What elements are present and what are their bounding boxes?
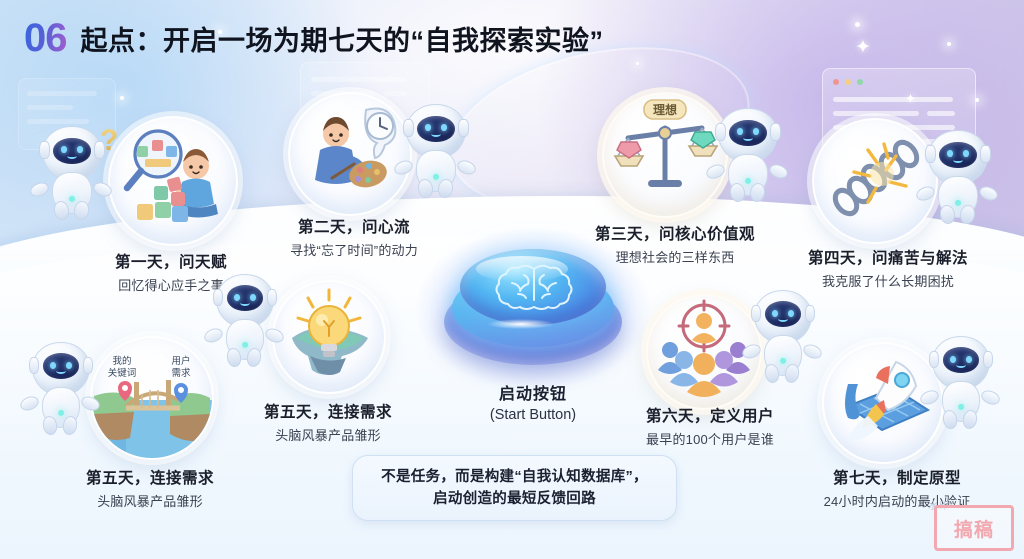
sparkle-icon: ✦ xyxy=(855,38,871,57)
light-dot xyxy=(120,96,124,100)
day5a-title: 第五天，连接需求 xyxy=(42,466,258,488)
day7-caption: 第七天，制定原型 24小时内启动的最小验证 xyxy=(782,466,1012,510)
balance-scale-gems-icon: 理想 xyxy=(604,94,726,216)
day5a-subtitle: 头脑风暴产品雏形 xyxy=(42,491,258,510)
light-dot xyxy=(855,22,860,27)
day2-subtitle: 寻找“忘了时间”的动力 xyxy=(249,240,459,259)
start-label-en: (Start Button) xyxy=(442,407,624,423)
day5b-caption: 第五天，连接需求 头脑风暴产品雏形 xyxy=(228,400,428,444)
pin-label-left-line1: 我的 xyxy=(112,355,131,367)
title-number: 06 xyxy=(24,16,67,61)
light-dot xyxy=(975,98,979,102)
brain-icon xyxy=(488,261,580,311)
robot-avatar xyxy=(32,342,88,426)
robot-avatar xyxy=(928,130,986,216)
day5b-illustration xyxy=(272,280,386,394)
day4-caption: 第四天，问痛苦与解法 我克服了什么长期困扰 xyxy=(768,246,1008,290)
robot-avatar xyxy=(42,126,100,212)
slide-canvas: ✦ ✦ ✦ ✦ 06 起点：开启一场为期七天的“自我探索实验” xyxy=(0,0,1024,559)
magnifier-child-blocks-icon xyxy=(110,118,236,244)
day6-subtitle: 最早的100个用户是谁 xyxy=(600,429,820,448)
callout-line2: 启动创造的最短反馈回路 xyxy=(433,488,596,510)
robot-avatar xyxy=(932,336,988,420)
robot-avatar xyxy=(406,104,464,190)
callout-line1: 不是任务，而是构建“自我认知数据库”， xyxy=(381,466,648,488)
pin-label-right-line2: 需求 xyxy=(171,367,191,379)
start-button-highlight xyxy=(488,319,554,329)
robot-avatar xyxy=(718,108,776,194)
day5a-illustration: 我的 关键词 用户 需求 xyxy=(90,336,214,460)
breaking-chain-icon xyxy=(814,120,936,242)
day4-subtitle: 我克服了什么长期困扰 xyxy=(768,271,1008,290)
day6-caption: 第六天，定义用户 最早的100个用户是谁 xyxy=(600,404,820,448)
day5b-title: 第五天，连接需求 xyxy=(228,400,428,422)
robot-avatar xyxy=(754,290,810,374)
pin-label-right-line1: 用户 xyxy=(171,355,190,367)
day3-badge-text: 理想 xyxy=(653,102,677,117)
callout-box: 不是任务，而是构建“自我认知数据库”， 启动创造的最短反馈回路 xyxy=(352,455,677,521)
day5b-subtitle: 头脑风暴产品雏形 xyxy=(228,425,428,444)
painter-melting-clock-icon xyxy=(290,94,410,214)
pin-label-left-line2: 关键词 xyxy=(108,367,137,379)
day3-illustration: 理想 xyxy=(602,92,728,218)
day2-caption: 第二天，问心流 寻找“忘了时间”的动力 xyxy=(249,215,459,259)
day4-title: 第四天，问痛苦与解法 xyxy=(768,246,1008,268)
page-title: 06 起点：开启一场为期七天的“自我探索实验” xyxy=(24,16,604,61)
bridge-cliffs-icon: 我的 关键词 用户 需求 xyxy=(92,338,212,458)
question-mark-icon: ? xyxy=(100,124,118,158)
lightbulb-island-icon xyxy=(274,282,384,392)
title-text: 起点：开启一场为期七天的“自我探索实验” xyxy=(81,19,604,58)
day2-illustration xyxy=(288,92,412,216)
day7-title: 第七天，制定原型 xyxy=(782,466,1012,488)
day5a-caption: 第五天，连接需求 头脑风暴产品雏形 xyxy=(42,466,258,510)
day6-title: 第六天，定义用户 xyxy=(600,404,820,426)
day1-illustration xyxy=(108,116,238,246)
light-dot xyxy=(636,62,639,65)
day1-title: 第一天，问天赋 xyxy=(61,250,281,272)
day4-illustration xyxy=(812,118,938,244)
day2-title: 第二天，问心流 xyxy=(249,215,459,237)
robot-avatar xyxy=(216,274,272,358)
sparkle-icon: ✦ xyxy=(905,92,916,105)
start-label-cn: 启动按钮 xyxy=(442,380,624,404)
start-button-label: 启动按钮 (Start Button) xyxy=(442,380,624,423)
start-button[interactable] xyxy=(442,245,624,380)
light-dot xyxy=(947,42,951,46)
watermark-seal: 搞稿 xyxy=(934,505,1014,551)
